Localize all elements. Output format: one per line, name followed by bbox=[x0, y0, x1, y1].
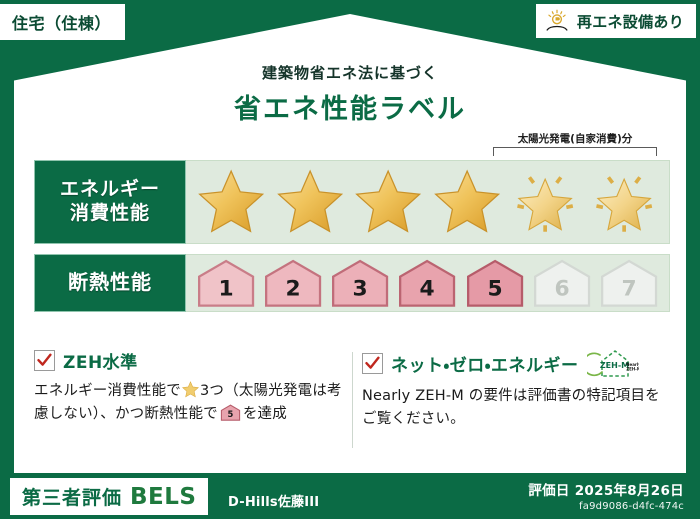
evaluation-date-value: 2025年8月26日 bbox=[575, 483, 684, 499]
house-type-tag: 住宅（住棟） bbox=[0, 4, 125, 40]
insulation-badge-7-value: 7 bbox=[622, 276, 637, 301]
sun-icon bbox=[544, 9, 570, 33]
star-icon bbox=[433, 169, 501, 235]
energy-performance-body: 太陽光発電(自家消費)分 bbox=[186, 160, 670, 244]
solar-annotation-bracket bbox=[493, 147, 657, 156]
renewable-energy-badge: 再エネ設備あり bbox=[536, 4, 696, 38]
energy-performance-label: 住宅（住棟） 再エネ設備あり 建築物省エネ法に基づく 省エネ性能ラベル bbox=[0, 0, 700, 519]
energy-performance-label: エネルギー 消費性能 bbox=[34, 160, 186, 244]
zeh-standard-title: ZEH水準 bbox=[63, 348, 138, 373]
energy-label-line1: エネルギー bbox=[60, 178, 160, 200]
insulation-badge-6-value: 6 bbox=[554, 276, 569, 301]
inline-insulation-badge: 5 bbox=[220, 404, 241, 421]
net-zero-header: ネット・ゼロ・エネルギー ZEH-M Nearly ZEH-M bbox=[362, 348, 672, 378]
insulation-badge-7: 7 bbox=[598, 259, 660, 307]
bels-jp-label: 第三者評価 bbox=[22, 483, 122, 510]
title-block: 建築物省エネ法に基づく 省エネ性能ラベル bbox=[0, 62, 700, 126]
evaluation-info: 評価日 2025年8月26日 fa9d9086-d4fc-474c bbox=[528, 479, 684, 512]
star-icon bbox=[354, 169, 422, 235]
insulation-badge-1: 1 bbox=[195, 259, 257, 307]
evaluation-date-line: 評価日 2025年8月26日 bbox=[528, 479, 684, 499]
title-subtitle: 建築物省エネ法に基づく bbox=[0, 62, 700, 83]
svg-text:ZEH-M: ZEH-M bbox=[626, 367, 639, 372]
insulation-performance-label: 断熱性能 bbox=[34, 254, 186, 312]
check-icon bbox=[34, 350, 55, 371]
info-block-zeh-standard: ZEH水準 エネルギー消費性能で3つ（太陽光発電は考慮しない）、かつ断熱性能で5… bbox=[34, 348, 344, 432]
solar-annotation: 太陽光発電(自家消費)分 bbox=[487, 131, 663, 156]
insulation-badge-4-value: 4 bbox=[420, 276, 435, 301]
insulation-badge-2: 2 bbox=[262, 259, 324, 307]
inline-star-icon bbox=[182, 381, 199, 398]
bels-certification-box: 第三者評価 BELS bbox=[10, 478, 208, 515]
insulation-performance-row: 断熱性能 1 2 3 4 5 bbox=[34, 254, 670, 312]
label-footer: 第三者評価 BELS D-Hills佐藤III 評価日 2025年8月26日 f… bbox=[0, 473, 700, 519]
zeh-m-logo: ZEH-M Nearly ZEH-M bbox=[587, 348, 639, 378]
performance-rows: エネルギー 消費性能 太陽光発電(自家消費)分 bbox=[34, 160, 670, 322]
zeh-standard-header: ZEH水準 bbox=[34, 348, 344, 373]
insulation-badge-2-value: 2 bbox=[285, 276, 300, 301]
evaluation-date-label: 評価日 bbox=[528, 483, 569, 499]
info-block-net-zero-energy: ネット・ゼロ・エネルギー ZEH-M Nearly ZEH-M Nearly Z… bbox=[362, 348, 672, 432]
star-icon bbox=[276, 169, 344, 235]
net-zero-body: Nearly ZEH-M の要件は評価書の特記項目をご覧ください。 bbox=[362, 385, 672, 432]
page-title: 省エネ性能ラベル bbox=[0, 87, 700, 126]
star-icon bbox=[197, 169, 265, 235]
star-rating bbox=[186, 161, 669, 243]
solar-star-icon bbox=[590, 169, 658, 235]
insulation-badge-4: 4 bbox=[396, 259, 458, 307]
zeh-body-part3: を達成 bbox=[243, 406, 287, 422]
info-blocks: ZEH水準 エネルギー消費性能で3つ（太陽光発電は考慮しない）、かつ断熱性能で5… bbox=[34, 348, 672, 432]
building-name: D-Hills佐藤III bbox=[228, 491, 319, 510]
energy-label-line2: 消費性能 bbox=[70, 202, 150, 224]
solar-star-icon bbox=[511, 169, 579, 235]
insulation-badge-3-value: 3 bbox=[353, 276, 368, 301]
insulation-badge-1-value: 1 bbox=[218, 276, 233, 301]
energy-performance-row: エネルギー 消費性能 太陽光発電(自家消費)分 bbox=[34, 160, 670, 244]
solar-annotation-label: 太陽光発電(自家消費)分 bbox=[487, 131, 663, 146]
renewable-energy-label: 再エネ設備あり bbox=[577, 11, 684, 32]
bels-en-label: BELS bbox=[130, 484, 196, 510]
insulation-level-scale: 1 2 3 4 5 6 bbox=[186, 255, 669, 311]
evaluation-id: fa9d9086-d4fc-474c bbox=[528, 501, 684, 512]
check-icon bbox=[362, 353, 383, 374]
insulation-badge-6: 6 bbox=[531, 259, 593, 307]
insulation-performance-body: 1 2 3 4 5 6 bbox=[186, 254, 670, 312]
insulation-badge-5-value: 5 bbox=[487, 276, 502, 301]
house-type-label: 住宅（住棟） bbox=[12, 14, 111, 33]
net-zero-title: ネット・ゼロ・エネルギー bbox=[391, 351, 579, 376]
insulation-badge-3: 3 bbox=[329, 259, 391, 307]
svg-text:ZEH-M: ZEH-M bbox=[599, 361, 628, 370]
zeh-standard-body: エネルギー消費性能で3つ（太陽光発電は考慮しない）、かつ断熱性能で5を達成 bbox=[34, 380, 344, 427]
svg-text:5: 5 bbox=[227, 410, 233, 420]
zeh-body-part1: エネルギー消費性能で bbox=[34, 383, 181, 399]
insulation-badge-5: 5 bbox=[464, 259, 526, 307]
